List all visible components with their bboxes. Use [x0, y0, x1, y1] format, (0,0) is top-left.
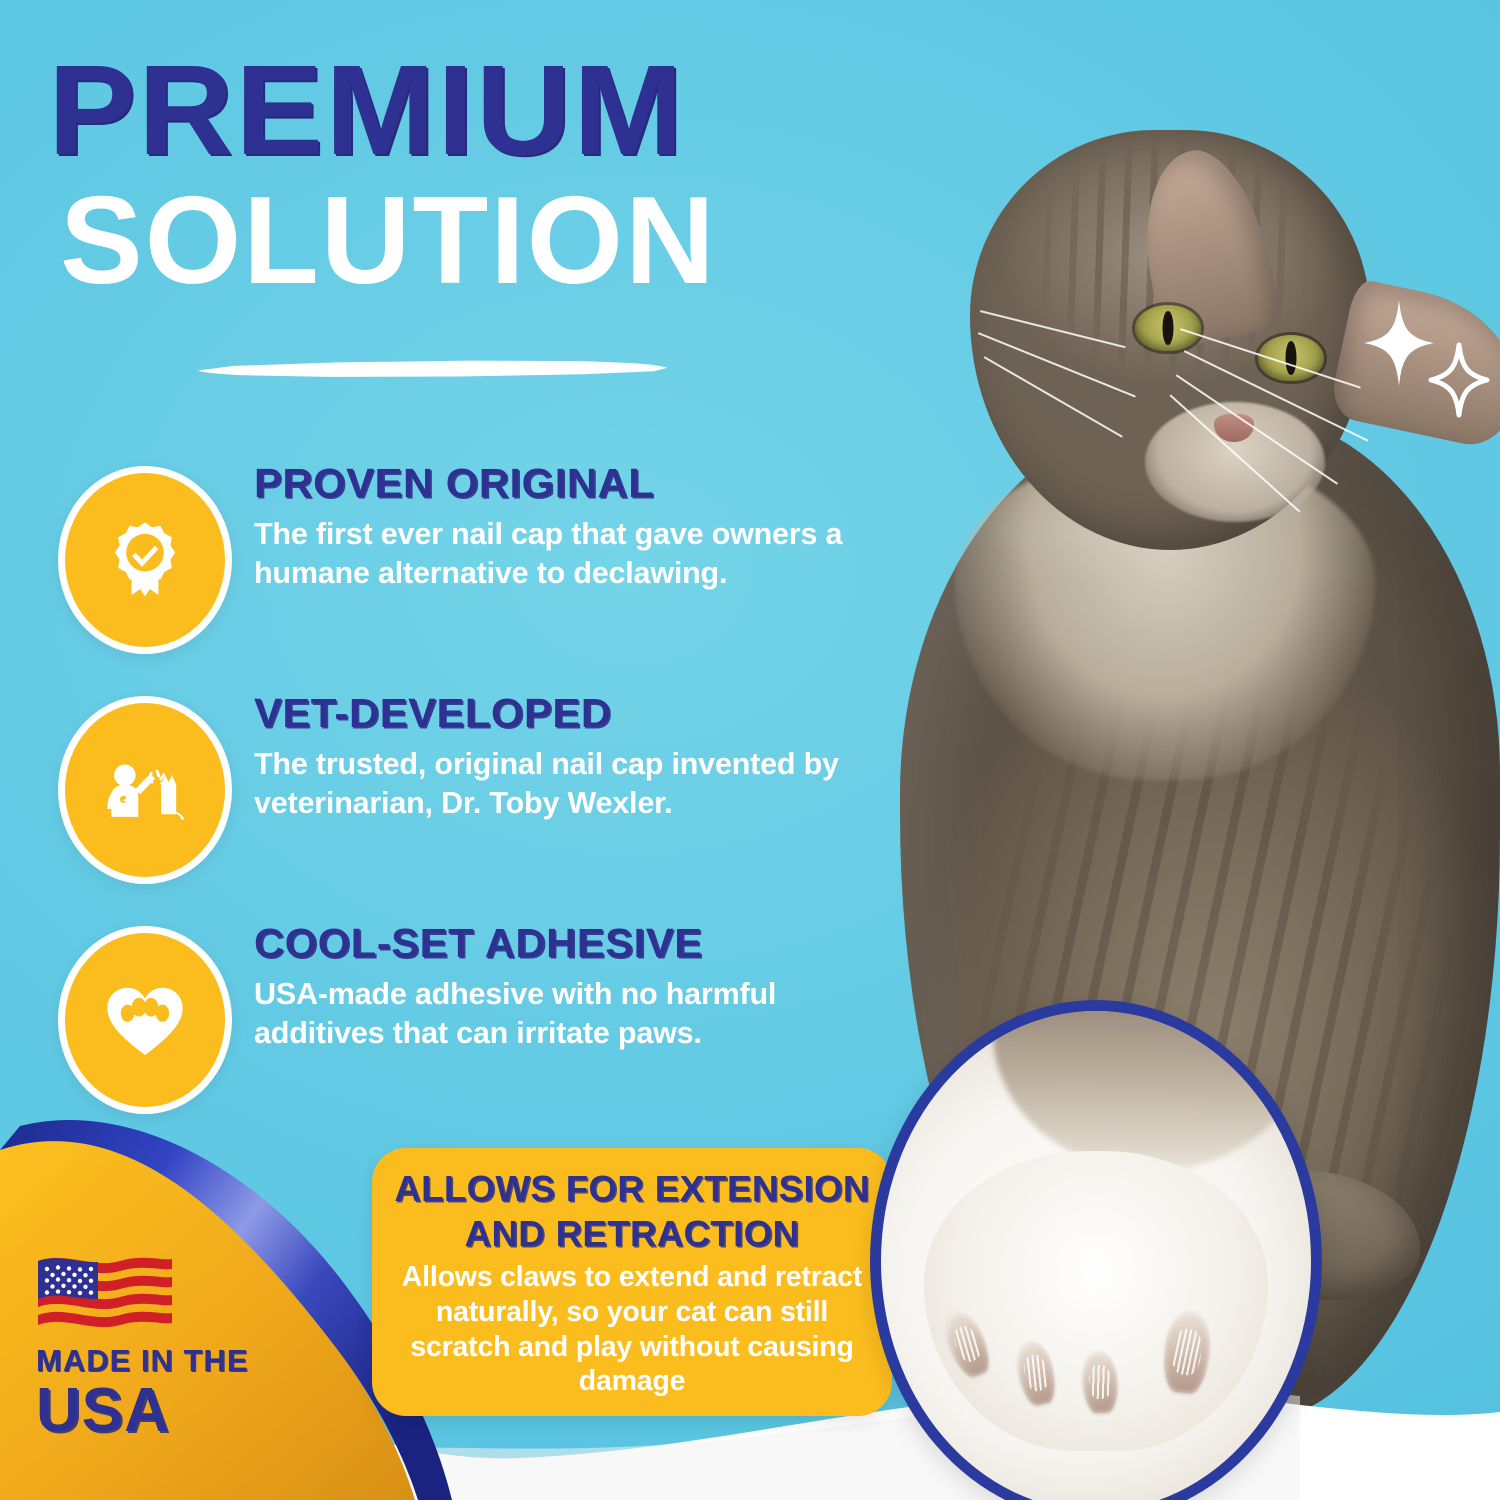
- award-ribbon-check-icon: [58, 466, 232, 654]
- feature-item-vet-developed: VET-DEVELOPED The trusted, original nail…: [58, 692, 858, 878]
- swoosh-divider-icon: [196, 358, 668, 380]
- product-infographic: PREMIUM SOLUTION PROVEN ORIGINAL The fir…: [0, 0, 1500, 1500]
- usa-flag-icon: [36, 1249, 174, 1335]
- callout-title-line1: ALLOWS FOR EXTENSION: [385, 1170, 879, 1207]
- feature-item-cool-set-adhesive: COOL-SET ADHESIVE USA-made adhesive with…: [58, 922, 858, 1108]
- feature-body: The trusted, original nail cap invented …: [254, 745, 858, 824]
- vet-high-five-cat-icon: [58, 696, 232, 884]
- made-in-usa-line1: MADE IN THE: [36, 1345, 296, 1376]
- sparkle-icon: [1364, 300, 1434, 386]
- feature-heading: PROVEN ORIGINAL: [254, 462, 870, 505]
- feature-item-proven-original: PROVEN ORIGINAL The first ever nail cap …: [58, 462, 858, 648]
- feature-heading: VET-DEVELOPED: [254, 692, 870, 735]
- feature-body: The first ever nail cap that gave owners…: [254, 515, 858, 594]
- callout-title-line2: AND RETRACTION: [385, 1215, 879, 1252]
- feature-body: USA-made adhesive with no harmful additi…: [254, 975, 858, 1054]
- page-title-solution: SOLUTION: [60, 184, 717, 298]
- made-in-usa-line2: USA: [36, 1380, 296, 1442]
- sparkle-outline-icon: [1428, 342, 1490, 418]
- feature-heading: COOL-SET ADHESIVE: [254, 922, 870, 965]
- extension-retraction-callout: ALLOWS FOR EXTENSION AND RETRACTION Allo…: [372, 1148, 892, 1416]
- made-in-usa-badge: MADE IN THE USA: [36, 1249, 296, 1442]
- cat-whiskers: [970, 270, 1390, 530]
- feature-list: PROVEN ORIGINAL The first ever nail cap …: [58, 462, 858, 1108]
- paw-fur: [993, 1000, 1311, 1171]
- callout-body: Allows claws to extend and retract natur…: [390, 1260, 874, 1399]
- cat-paw-closeup-magnifier: [870, 1000, 1322, 1500]
- page-title-premium: PREMIUM: [48, 52, 685, 170]
- heart-paw-icon: [58, 926, 232, 1114]
